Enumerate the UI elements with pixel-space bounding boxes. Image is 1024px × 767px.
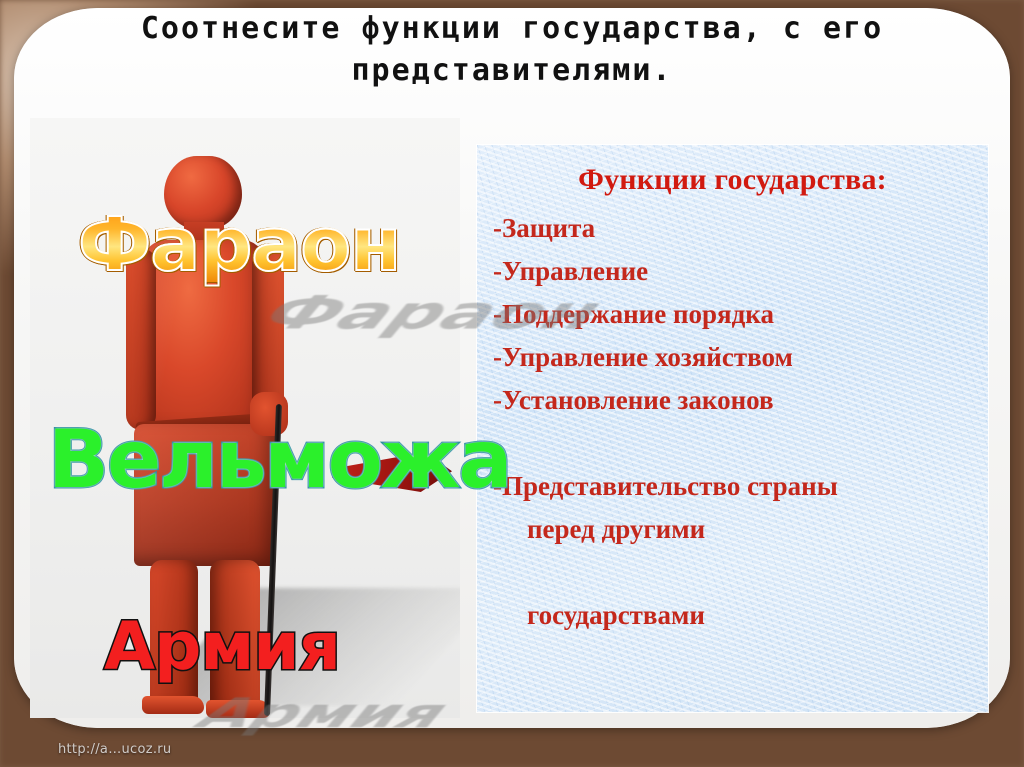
list-item-line: -Представительство страны	[493, 471, 838, 501]
wordart-shadow-pharaoh: Фараон	[250, 290, 617, 336]
list-item: Обозначение государственной принадлежнос…	[493, 680, 974, 712]
functions-list: -Защита -Управление -Поддержание порядка…	[477, 203, 988, 712]
functions-panel-heading: Функции государства:	[477, 163, 988, 197]
list-item-line: перед другими	[493, 508, 974, 551]
list-item: -Представительство страны перед другими …	[493, 422, 974, 680]
list-item: -Управление хозяйством	[493, 336, 974, 379]
wordart-shadow-army: Армия	[186, 693, 461, 734]
functions-panel: Функции государства: -Защита -Управление…	[477, 145, 988, 712]
site-watermark: http://a…ucoz.ru	[58, 742, 171, 757]
list-item: -Установление законов	[493, 379, 974, 422]
statue-left-foot	[142, 696, 204, 714]
wordart-label-noble[interactable]: Вельможа	[48, 420, 510, 500]
wordart-label-pharaoh[interactable]: Фараон	[78, 208, 400, 282]
page-title: Соотнесите функции государства, с его пр…	[40, 8, 984, 92]
wordart-label-army[interactable]: Армия	[104, 614, 340, 680]
list-item: -Защита	[493, 207, 974, 250]
presentation-slide: Соотнесите функции государства, с его пр…	[0, 0, 1024, 767]
list-item-line: государствами	[493, 594, 974, 637]
